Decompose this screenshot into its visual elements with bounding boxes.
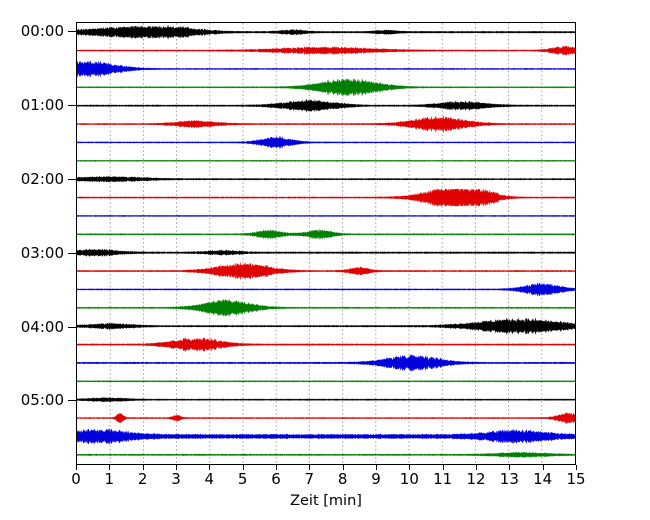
- trace-05-15: [77, 413, 575, 424]
- x-tick-mark: [76, 465, 77, 470]
- y-tick-label-00-00: 00:00: [21, 22, 64, 40]
- seismogram-figure: UTC (Lokalzeit = UTC + 01:00) 00:0001:00…: [0, 0, 650, 520]
- plot-area: [76, 22, 576, 465]
- x-tick-mark: [409, 465, 410, 470]
- x-tick-label-4: 4: [205, 470, 215, 488]
- trace-05-30: [77, 429, 575, 445]
- y-tick-mark: [68, 400, 76, 401]
- x-tick-mark: [143, 465, 144, 470]
- trace-03-45: [77, 299, 575, 316]
- trace-05-45: [77, 452, 575, 458]
- x-tick-label-15: 15: [566, 470, 585, 488]
- trace-04-00: [77, 318, 575, 334]
- x-tick-label-0: 0: [71, 470, 81, 488]
- trace-01-45: [77, 160, 575, 161]
- x-axis-label: Zeit [min]: [76, 493, 576, 509]
- trace-02-30: [77, 215, 575, 216]
- trace-03-15: [77, 263, 575, 280]
- x-tick-mark: [576, 465, 577, 470]
- x-tick-mark: [476, 465, 477, 470]
- x-tick-mark: [276, 465, 277, 470]
- x-tick-mark: [209, 465, 210, 470]
- x-tick-mark: [509, 465, 510, 470]
- y-tick-label-05-00: 05:00: [21, 391, 64, 409]
- y-tick-label-04-00: 04:00: [21, 318, 64, 336]
- x-tick-label-10: 10: [400, 470, 419, 488]
- x-tick-mark: [343, 465, 344, 470]
- trace-02-00: [77, 176, 575, 182]
- x-tick-label-2: 2: [138, 470, 148, 488]
- x-tick-label-11: 11: [433, 470, 452, 488]
- x-tick-mark: [443, 465, 444, 470]
- x-tick-mark: [376, 465, 377, 470]
- trace-00-30: [77, 61, 575, 77]
- x-tick-mark: [309, 465, 310, 470]
- trace-02-45: [77, 229, 575, 239]
- y-tick-label-01-00: 01:00: [21, 96, 64, 114]
- x-tick-mark: [109, 465, 110, 470]
- y-tick-mark: [68, 105, 76, 106]
- trace-03-30: [77, 283, 575, 296]
- y-tick-mark: [68, 327, 76, 328]
- x-tick-label-5: 5: [238, 470, 248, 488]
- y-tick-label-03-00: 03:00: [21, 244, 64, 262]
- trace-00-15: [77, 46, 575, 55]
- x-tick-label-12: 12: [466, 470, 485, 488]
- x-tick-mark: [243, 465, 244, 470]
- trace-00-00: [77, 25, 575, 39]
- y-tick-label-02-00: 02:00: [21, 170, 64, 188]
- x-tick-label-13: 13: [500, 470, 519, 488]
- x-tick-label-8: 8: [338, 470, 348, 488]
- trace-01-15: [77, 116, 575, 133]
- trace-01-00: [77, 99, 575, 112]
- trace-04-30: [77, 355, 575, 372]
- x-tick-label-6: 6: [271, 470, 281, 488]
- x-tick-label-7: 7: [305, 470, 315, 488]
- y-tick-mark: [68, 179, 76, 180]
- waveform-traces: [77, 23, 575, 464]
- trace-02-15: [77, 189, 575, 206]
- trace-04-45: [77, 381, 575, 383]
- trace-03-00: [77, 249, 575, 257]
- trace-05-00: [77, 397, 575, 402]
- x-tick-mark: [543, 465, 544, 470]
- x-tick-mark: [176, 465, 177, 470]
- trace-04-15: [77, 337, 575, 352]
- x-tick-label-1: 1: [105, 470, 115, 488]
- x-tick-label-9: 9: [371, 470, 381, 488]
- x-tick-label-14: 14: [533, 470, 552, 488]
- y-tick-mark: [68, 31, 76, 32]
- x-tick-label-3: 3: [171, 470, 181, 488]
- trace-00-45: [77, 79, 575, 96]
- y-tick-mark: [68, 253, 76, 254]
- trace-01-30: [77, 136, 575, 149]
